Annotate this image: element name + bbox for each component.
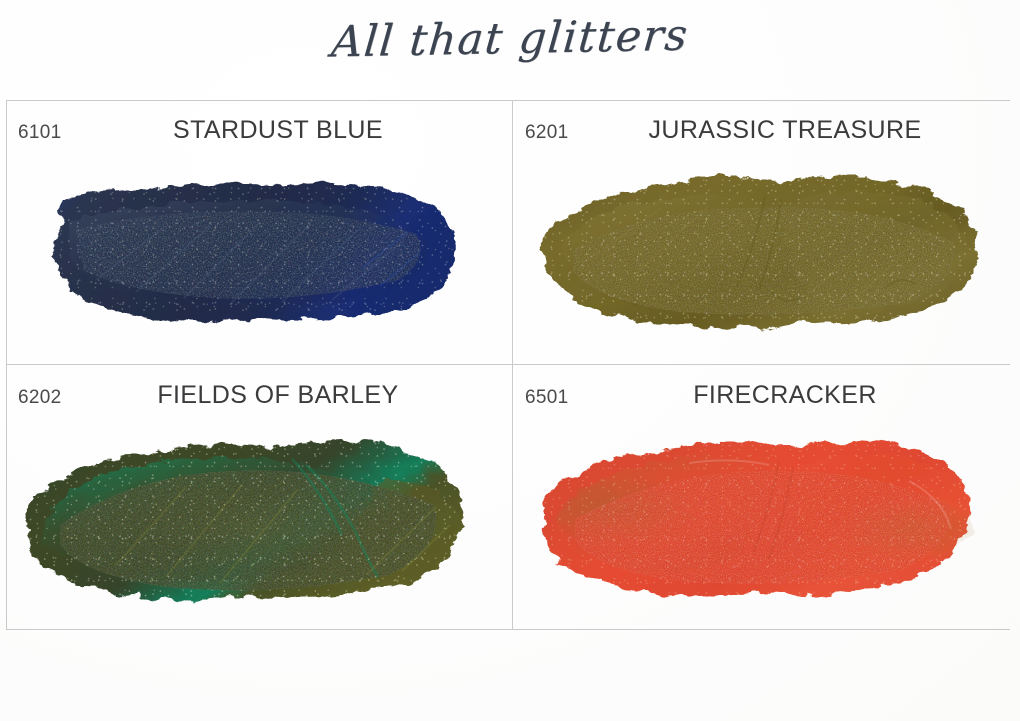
ink-swatch-jurassic-treasure [513,160,1019,360]
ink-swatch-stardust-blue [6,160,512,360]
swatch-name: STARDUST BLUE [6,116,512,145]
swatch-grid: 6101 STARDUST BLUE [6,100,1010,630]
swatch-cell-firecracker[interactable]: 6501 FIRECRACKER [513,365,1019,629]
swatch-name: FIELDS OF BARLEY [6,381,512,410]
grid-line-bottom [6,629,1010,630]
swatch-cell-stardust-blue[interactable]: 6101 STARDUST BLUE [6,100,512,364]
ink-swatch-firecracker [513,425,1019,625]
swatch-name: JURASSIC TREASURE [513,116,1019,145]
ink-swatch-fields-of-barley [6,425,512,625]
swatch-cell-fields-of-barley[interactable]: 6202 FIELDS OF BARLEY [6,365,512,629]
swatch-cell-jurassic-treasure[interactable]: 6201 JURASSIC TREASURE [513,100,1019,364]
swatch-name: FIRECRACKER [513,381,1019,410]
